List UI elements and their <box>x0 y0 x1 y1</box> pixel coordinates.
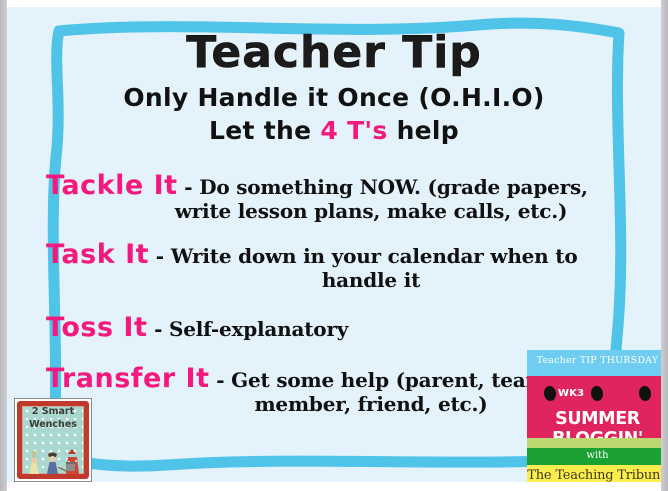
tip-dash: - <box>178 175 200 199</box>
logo-text-line1: 2 Smart <box>15 406 91 419</box>
tip-description: Self-explanatory <box>169 317 348 341</box>
badge-light-rind-band <box>527 438 668 448</box>
tip-line: Task It - Write down in your calendar wh… <box>46 239 626 270</box>
three-characters-illustration <box>22 445 86 475</box>
watermelon-seed-icon <box>590 385 604 401</box>
tip-description-continued: write lesson plans, make calls, etc.) <box>46 199 626 223</box>
tip-description: Do something NOW. (grade papers, <box>199 175 588 199</box>
poster-subtitle-secondary: Let the 4 T's help <box>0 115 668 146</box>
two-smart-wenches-logo[interactable]: 2 Smart Wenches <box>14 398 92 482</box>
tip-description: Write down in your calendar when to <box>171 244 578 268</box>
tip-term: Transfer It <box>46 363 210 394</box>
subtitle-suffix: help <box>388 116 459 145</box>
badge-melon-band: WK3 SUMMER BLOGGIN' <box>527 376 668 438</box>
subtitle-prefix: Let the <box>209 116 320 145</box>
badge-sky-band: Teacher TIP THURSDAY <box>527 350 668 376</box>
poster-subtitle: Only Handle it Once (O.H.I.O) <box>0 82 668 113</box>
page-top-strip <box>0 0 668 7</box>
badge-tribune-label: The Teaching Tribune <box>527 468 668 483</box>
tip-item-tackle: Tackle It - Do something NOW. (grade pap… <box>46 170 626 223</box>
tip-line: Toss It - Self-explanatory <box>46 312 626 343</box>
tip-line: Tackle It - Do something NOW. (grade pap… <box>46 170 626 201</box>
badge-week-label: WK3 <box>558 388 584 399</box>
subtitle-accent: 4 T's <box>320 116 387 145</box>
tip-dash: - <box>147 317 169 341</box>
tip-item-task: Task It - Write down in your calendar wh… <box>46 239 626 292</box>
tip-dash: - <box>210 368 232 392</box>
tip-term: Tackle It <box>46 170 178 201</box>
poster-heading: Teacher Tip Only Handle it Once (O.H.I.O… <box>0 30 668 147</box>
tip-item-toss: Toss It - Self-explanatory <box>46 312 626 343</box>
badge-with-label: with <box>527 450 668 461</box>
logo-text: 2 Smart Wenches <box>15 406 91 432</box>
page-title: Teacher Tip <box>0 30 668 76</box>
tip-description: Get some help (parent, team <box>231 368 546 392</box>
tip-term: Toss It <box>46 312 147 343</box>
page-left-gutter <box>0 0 7 491</box>
summer-bloggin-badge[interactable]: Teacher TIP THURSDAY WK3 SUMMER BLOGGIN'… <box>527 350 668 483</box>
tip-description-continued: handle it <box>46 268 626 292</box>
badge-green-rind-band: with <box>527 448 668 465</box>
teacher-tip-poster: Teacher Tip Only Handle it Once (O.H.I.O… <box>0 0 668 491</box>
page-bottom-strip <box>0 482 668 491</box>
badge-yellow-band: The Teaching Tribune <box>527 465 668 483</box>
tip-dash: - <box>149 244 171 268</box>
logo-text-line2: Wenches <box>15 419 91 432</box>
tip-term: Task It <box>46 239 149 270</box>
page-right-gutter <box>661 0 668 491</box>
watermelon-seed-icon <box>638 385 652 401</box>
badge-top-label: Teacher TIP THURSDAY <box>527 355 668 366</box>
watermelon-seed-icon <box>543 385 557 401</box>
